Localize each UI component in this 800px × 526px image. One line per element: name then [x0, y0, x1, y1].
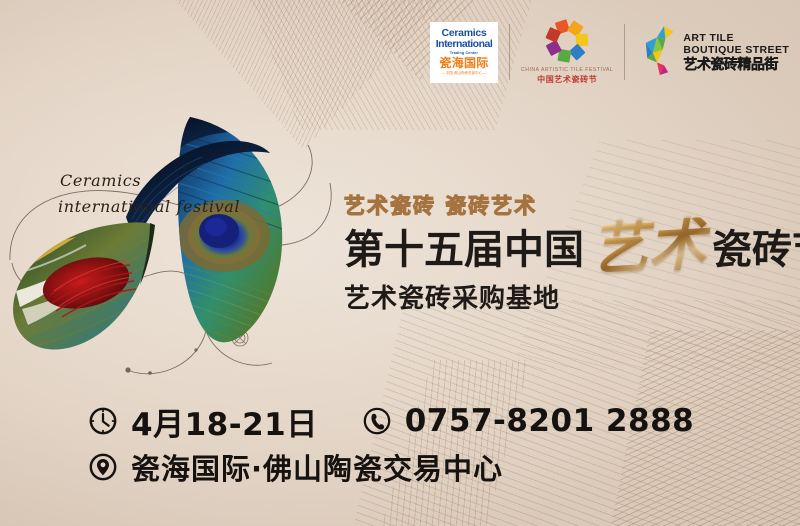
logo-china-artistic-tile-festival: CHINA ARTISTIC TILE FESTIVAL 中国艺术瓷砖节 [521, 19, 613, 86]
header-logo-row: Ceramics International Trading Center 瓷海… [430, 14, 790, 90]
main-title-gold-art: 艺术 [583, 217, 714, 276]
main-title-prefix: 第十五届中国 [344, 228, 584, 272]
main-title-line: 第十五届中国 艺术 瓷砖节 [344, 224, 794, 276]
info-row-date-phone: 4月18-21日 0757-8201 2888 [88, 398, 768, 444]
catf-logo-chinese: 中国艺术瓷砖节 [537, 74, 597, 85]
title-block: 艺术瓷砖 瓷砖艺术 第十五届中国 艺术 瓷砖节 艺术瓷砖采购基地 [344, 193, 794, 315]
logo-ceramics-international: Ceramics International Trading Center 瓷海… [430, 22, 498, 83]
logo-art-tile-boutique-street: ART TILE BOUTIQUE STREET 艺术瓷砖精品街 [636, 22, 789, 82]
info-row-address: 瓷海国际·佛山陶瓷交易中心 [88, 444, 768, 490]
contact-phone: 0757-8201 2888 [405, 403, 695, 439]
venue-address: 瓷海国际·佛山陶瓷交易中心 [131, 446, 503, 488]
peacock-feather-artwork [0, 95, 350, 385]
script-line-1: Ceramics [60, 168, 270, 194]
festival-script-text: Ceramics international festival [60, 168, 270, 220]
main-title-suffix: 瓷砖节 [712, 228, 800, 272]
script-line-2: international festival [58, 194, 270, 220]
poster-canvas: Ceramics International Trading Center 瓷海… [0, 0, 800, 526]
phone-icon [362, 406, 392, 436]
catf-logo-english: CHINA ARTISTIC TILE FESTIVAL [521, 67, 613, 73]
logo-divider-1 [509, 24, 510, 80]
event-date: 4月18-21日 [131, 399, 318, 444]
phone-group: 0757-8201 2888 [362, 403, 695, 439]
slogan-text: 艺术瓷砖 瓷砖艺术 [344, 193, 794, 219]
ci-logo-chinese-sub: — 中国·佛山陶瓷总部中心 — [441, 70, 486, 76]
ats-logo-chinese: 艺术瓷砖精品街 [683, 57, 789, 73]
faceted-gem-icon [636, 22, 678, 82]
ats-logo-line1: ART TILE [683, 32, 789, 44]
logo-divider-2 [624, 24, 625, 80]
ats-logo-line2: BOUTIQUE STREET [683, 44, 789, 56]
ci-logo-chinese: 瓷海国际 [439, 56, 488, 70]
clock-icon [88, 406, 118, 436]
info-block: 4月18-21日 0757-8201 2888 瓷海国际·佛山陶瓷交易中心 [88, 398, 768, 490]
location-pin-icon [88, 452, 118, 482]
title-subtitle: 艺术瓷砖采购基地 [344, 278, 794, 315]
pinwheel-star-icon [541, 19, 593, 65]
ci-logo-line2: International [436, 39, 493, 50]
